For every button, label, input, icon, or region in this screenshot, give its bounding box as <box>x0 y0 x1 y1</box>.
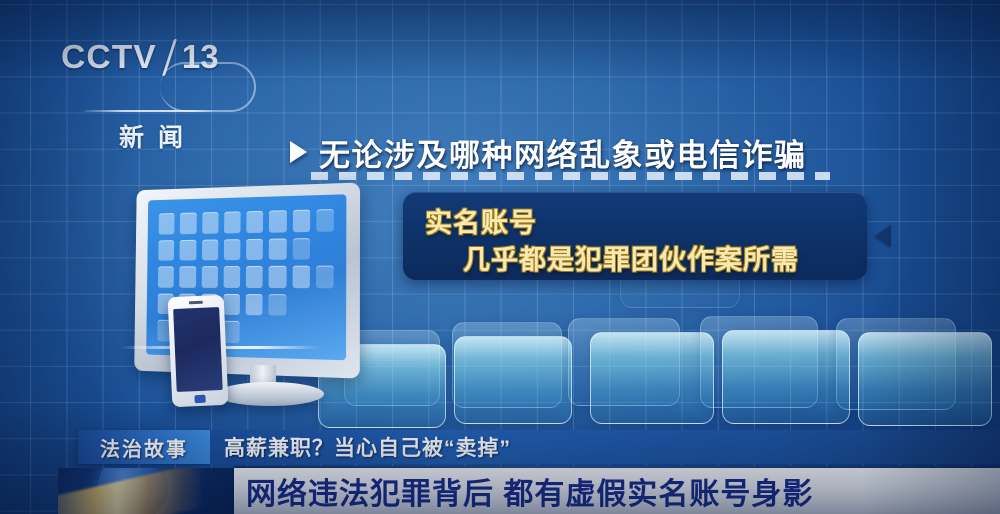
app-icon <box>316 237 334 259</box>
app-icon <box>158 240 174 261</box>
app-icon <box>268 322 285 344</box>
app-icon <box>316 323 334 346</box>
topic-headline: 无论涉及哪种网络乱象或电信诈骗 <box>290 131 807 173</box>
app-icon <box>224 211 241 233</box>
logo-ring-shape <box>160 62 256 112</box>
app-icon <box>269 266 286 288</box>
logo-subtitle: 新闻 <box>88 118 228 154</box>
cyan-panel-5 <box>858 332 992 426</box>
phone-home-button <box>194 395 205 403</box>
cyan-panel-2 <box>454 336 572 424</box>
app-icon <box>223 294 240 316</box>
app-icon <box>158 267 174 288</box>
news-globe-graphic <box>58 468 234 514</box>
triangle-left-icon <box>875 225 891 247</box>
app-icon <box>292 322 310 345</box>
app-icon <box>223 266 240 288</box>
monitor-bezel <box>134 182 360 378</box>
app-icon <box>316 266 334 288</box>
app-icon <box>180 213 196 234</box>
subtitle-text: 高薪兼职？当心自己被“卖掉” <box>224 432 511 462</box>
program-tag-label: 法治故事 <box>100 433 188 462</box>
app-icon <box>269 210 286 232</box>
app-icon <box>224 239 241 261</box>
smartphone-illustration <box>168 295 229 407</box>
subtitle-bar: 高薪兼职？当心自己被“卖掉” <box>210 430 1000 464</box>
cctv13-logo: CCTV 13 新闻 <box>62 36 242 108</box>
cyan-panel-4 <box>722 330 850 424</box>
app-icon <box>180 239 196 260</box>
headline-dashed-underline <box>311 172 830 180</box>
broadcast-screenshot: CCTV 13 新闻 无论涉及哪种网络乱象或电信诈骗 <box>0 0 1000 514</box>
app-icon <box>269 294 286 316</box>
main-headline-text: 网络违法犯罪背后 都有虚假实名账号身影 <box>246 469 813 513</box>
logo-underline <box>84 110 212 112</box>
app-icon <box>316 294 334 316</box>
callout-line-1: 实名账号 <box>425 201 537 240</box>
app-icon <box>269 238 286 260</box>
play-triangle-right-icon <box>290 141 307 163</box>
app-icon <box>159 213 175 234</box>
callout-box: 实名账号 几乎都是犯罪团伙作案所需 <box>403 192 867 280</box>
app-icon <box>201 239 218 260</box>
callout-line-2: 几乎都是犯罪团伙作案所需 <box>463 238 799 277</box>
topic-headline-text: 无论涉及哪种网络乱象或电信诈骗 <box>319 130 807 175</box>
monitor-base <box>216 382 324 406</box>
program-tag: 法治故事 <box>78 430 210 464</box>
app-icon <box>201 266 218 287</box>
app-icon <box>292 294 310 316</box>
main-headline-bar: 网络违法犯罪背后 都有虚假实名账号身影 <box>234 468 1000 514</box>
app-icon <box>246 211 263 233</box>
app-icon <box>246 294 263 316</box>
app-icon <box>246 238 263 260</box>
app-icon <box>202 212 219 234</box>
cyan-panel-3 <box>590 332 714 424</box>
app-icon <box>245 322 262 344</box>
phone-speaker <box>189 301 203 305</box>
app-icon <box>292 266 310 288</box>
app-icon <box>292 238 310 260</box>
app-icon <box>179 266 195 287</box>
app-icon <box>316 209 334 231</box>
phone-screen <box>173 307 223 392</box>
app-icon <box>246 266 263 288</box>
app-icon <box>292 210 310 232</box>
logo-cctv-text: CCTV <box>61 38 157 76</box>
